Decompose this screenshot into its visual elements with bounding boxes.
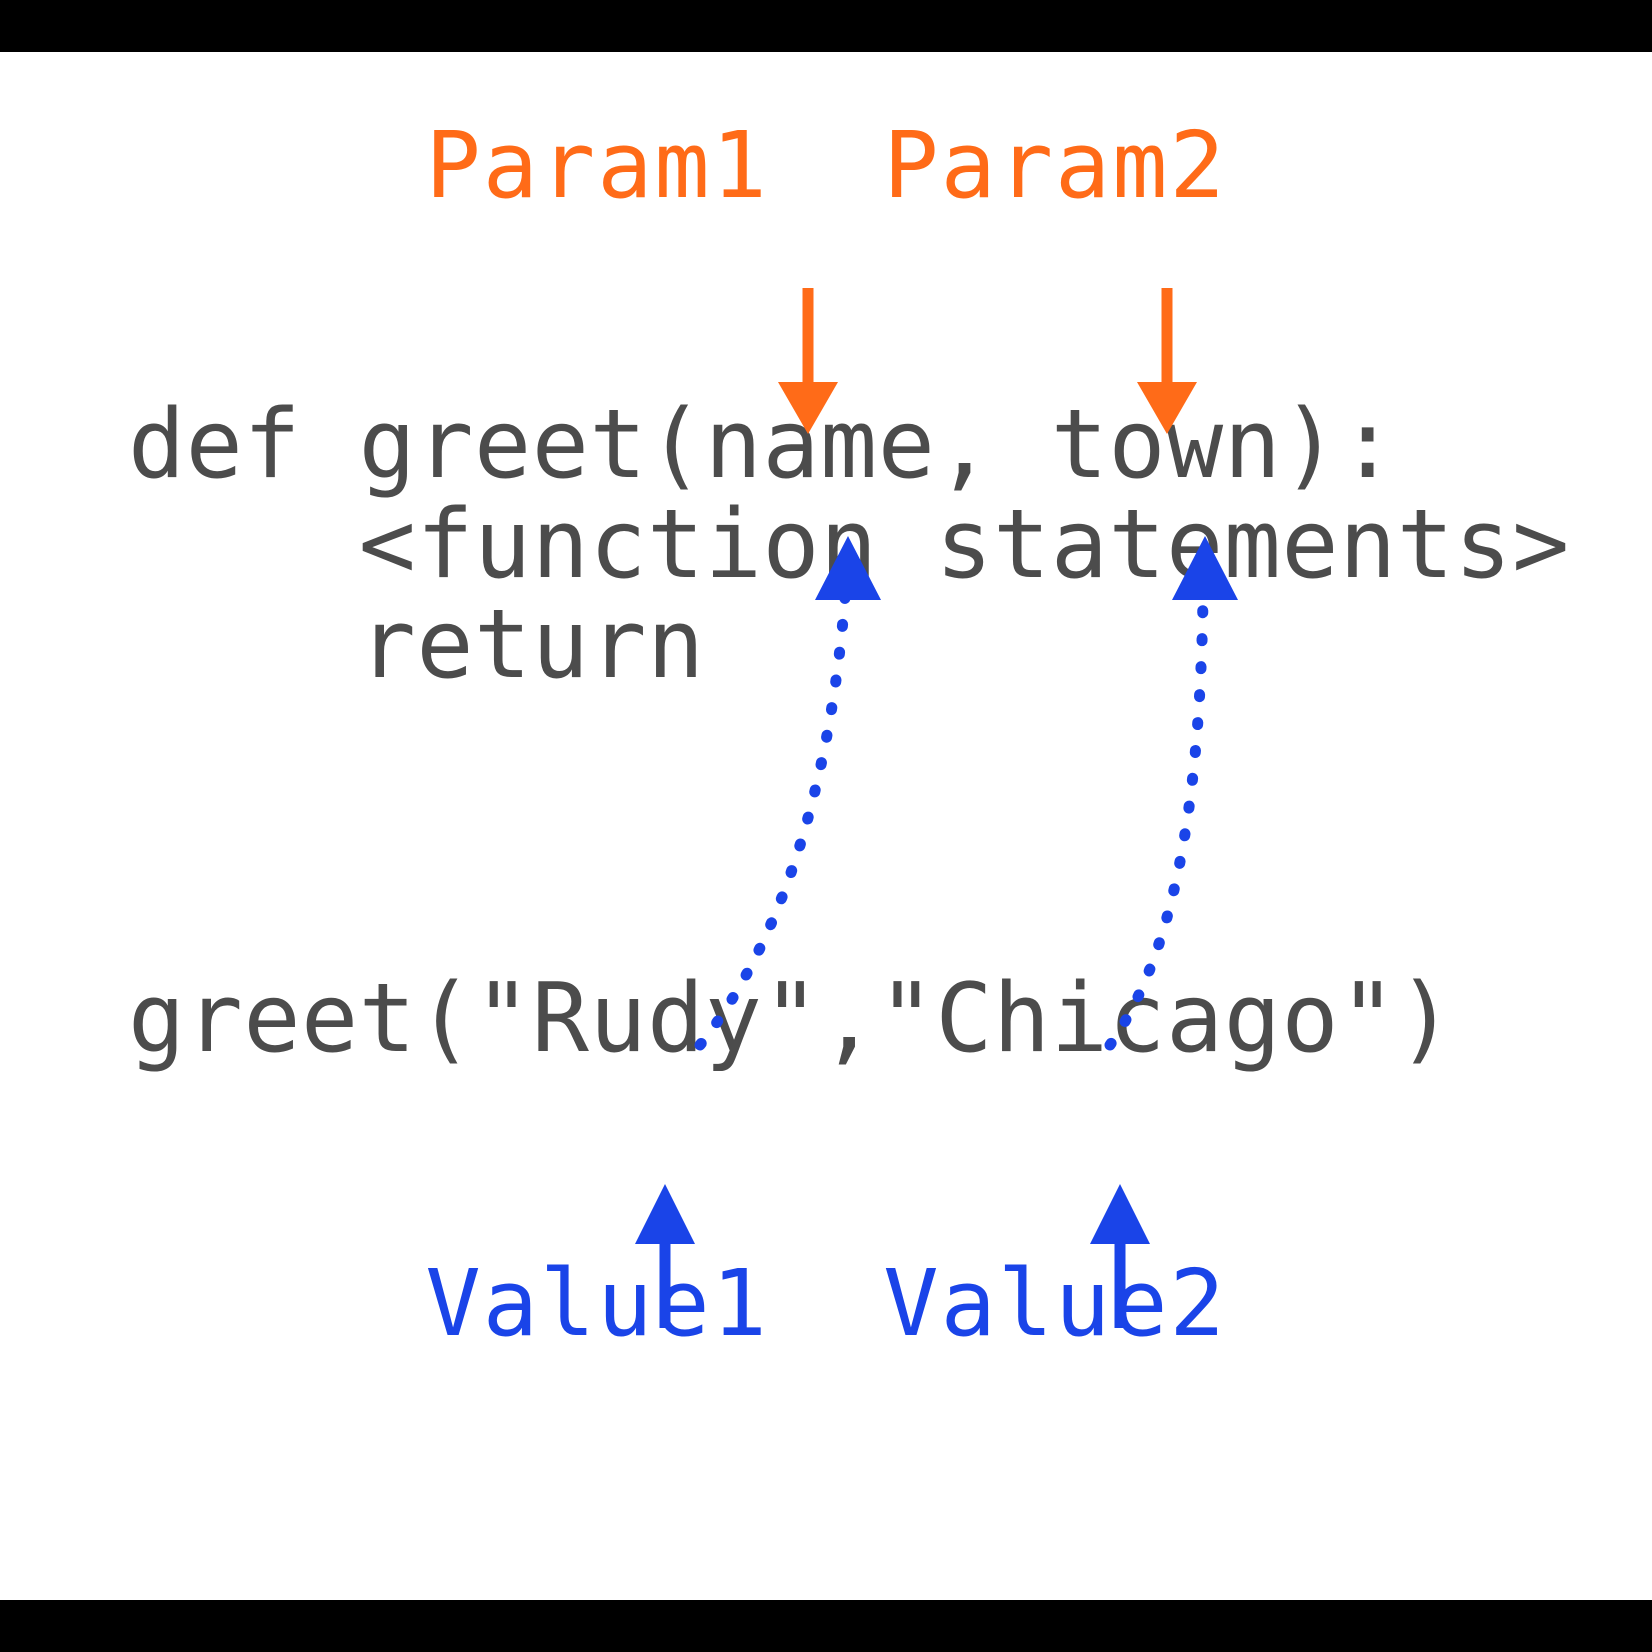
value-label-gap xyxy=(769,1250,883,1357)
value1-label: Value1 xyxy=(425,1250,768,1357)
param-label-gap xyxy=(769,112,883,219)
connector-layer xyxy=(0,52,1652,1600)
value2-label: Value2 xyxy=(883,1250,1226,1357)
param1-label: Param1 xyxy=(425,112,768,219)
code-line-call: greet("Rudy","Chicago") xyxy=(128,972,1454,1067)
parameter-label-row: Param1 Param2 xyxy=(0,112,1652,219)
code-line-body: <function statements> xyxy=(128,498,1570,593)
figure-root: Param1 Param2 def greet(name, town): <fu… xyxy=(0,0,1652,1652)
param2-label: Param2 xyxy=(883,112,1226,219)
diagram-canvas: Param1 Param2 def greet(name, town): <fu… xyxy=(0,52,1652,1600)
letterbox-bottom-bar xyxy=(0,1600,1652,1652)
code-line-return: return xyxy=(128,598,705,693)
value-label-row: Value1 Value2 xyxy=(0,1250,1652,1357)
code-line-definition: def greet(name, town): xyxy=(128,398,1397,493)
letterbox-top-bar xyxy=(0,0,1652,52)
